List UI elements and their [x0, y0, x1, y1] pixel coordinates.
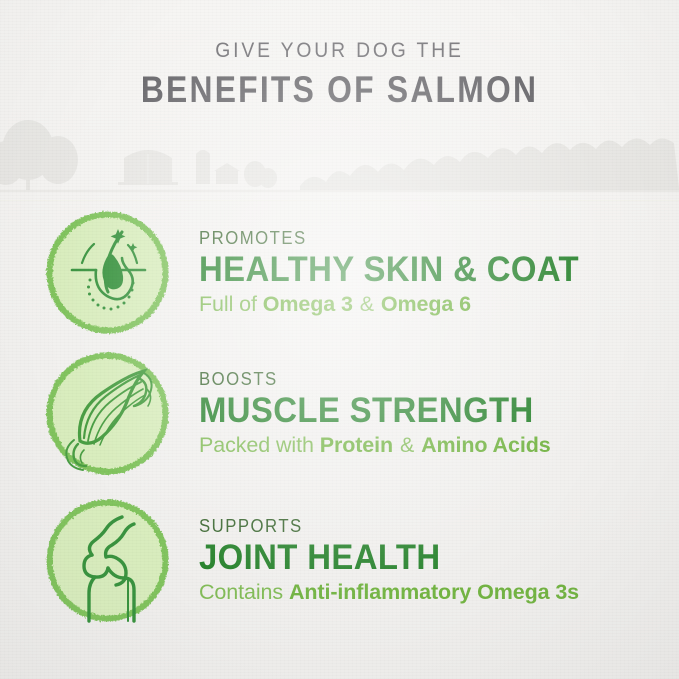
sub-bold-1: Protein	[320, 433, 393, 457]
benefit-text-joint: SUPPORTS JOINT HEALTH Contains Anti-infl…	[199, 517, 581, 604]
benefit-row-skin-coat: PROMOTES HEALTHY SKIN & COAT Full of Ome…	[0, 197, 679, 347]
knee-joint-icon	[42, 495, 173, 626]
sub-prefix: Contains	[199, 580, 289, 604]
sub-bold-1: Omega 3	[263, 292, 353, 316]
benefit-row-joint: SUPPORTS JOINT HEALTH Contains Anti-infl…	[0, 485, 679, 635]
sub-bold-1: Anti-inflammatory Omega 3s	[289, 580, 579, 604]
benefits-infographic: GIVE YOUR DOG THE BENEFITS OF SALMON	[0, 0, 679, 679]
benefit-eyebrow: BOOSTS	[199, 370, 530, 388]
benefit-headline: HEALTHY SKIN & COAT	[199, 252, 579, 287]
sub-amp: &	[393, 433, 421, 457]
sub-amp	[579, 580, 581, 604]
title-main: BENEFITS OF SALMON	[48, 69, 632, 112]
benefit-subtext: Contains Anti-inflammatory Omega 3s	[199, 582, 581, 604]
sub-prefix: Full of	[199, 292, 263, 316]
hair-follicle-skin-icon	[42, 207, 173, 338]
benefit-headline: MUSCLE STRENGTH	[199, 393, 534, 428]
badge-muscle	[42, 348, 173, 479]
title-eyebrow: GIVE YOUR DOG THE	[27, 38, 652, 63]
benefit-row-muscle: BOOSTS MUSCLE STRENGTH Packed with Prote…	[0, 338, 679, 488]
benefit-text-muscle: BOOSTS MUSCLE STRENGTH Packed with Prote…	[199, 370, 555, 457]
muscle-fiber-icon	[42, 348, 173, 479]
badge-joint	[42, 495, 173, 626]
benefit-text-skin-coat: PROMOTES HEALTHY SKIN & COAT Full of Ome…	[199, 229, 603, 316]
sub-amp: &	[353, 292, 381, 316]
benefit-subtext: Packed with Protein & Amino Acids	[199, 435, 555, 457]
sub-bold-2: Omega 6	[381, 292, 471, 316]
sub-prefix: Packed with	[199, 433, 320, 457]
sub-bold-2: Amino Acids	[421, 433, 551, 457]
benefit-eyebrow: PROMOTES	[199, 229, 575, 247]
benefit-eyebrow: SUPPORTS	[199, 517, 554, 535]
page-title: GIVE YOUR DOG THE BENEFITS OF SALMON	[0, 38, 679, 112]
badge-skin-coat	[42, 207, 173, 338]
benefit-subtext: Full of Omega 3 & Omega 6	[199, 294, 603, 316]
benefit-headline: JOINT HEALTH	[199, 540, 558, 575]
